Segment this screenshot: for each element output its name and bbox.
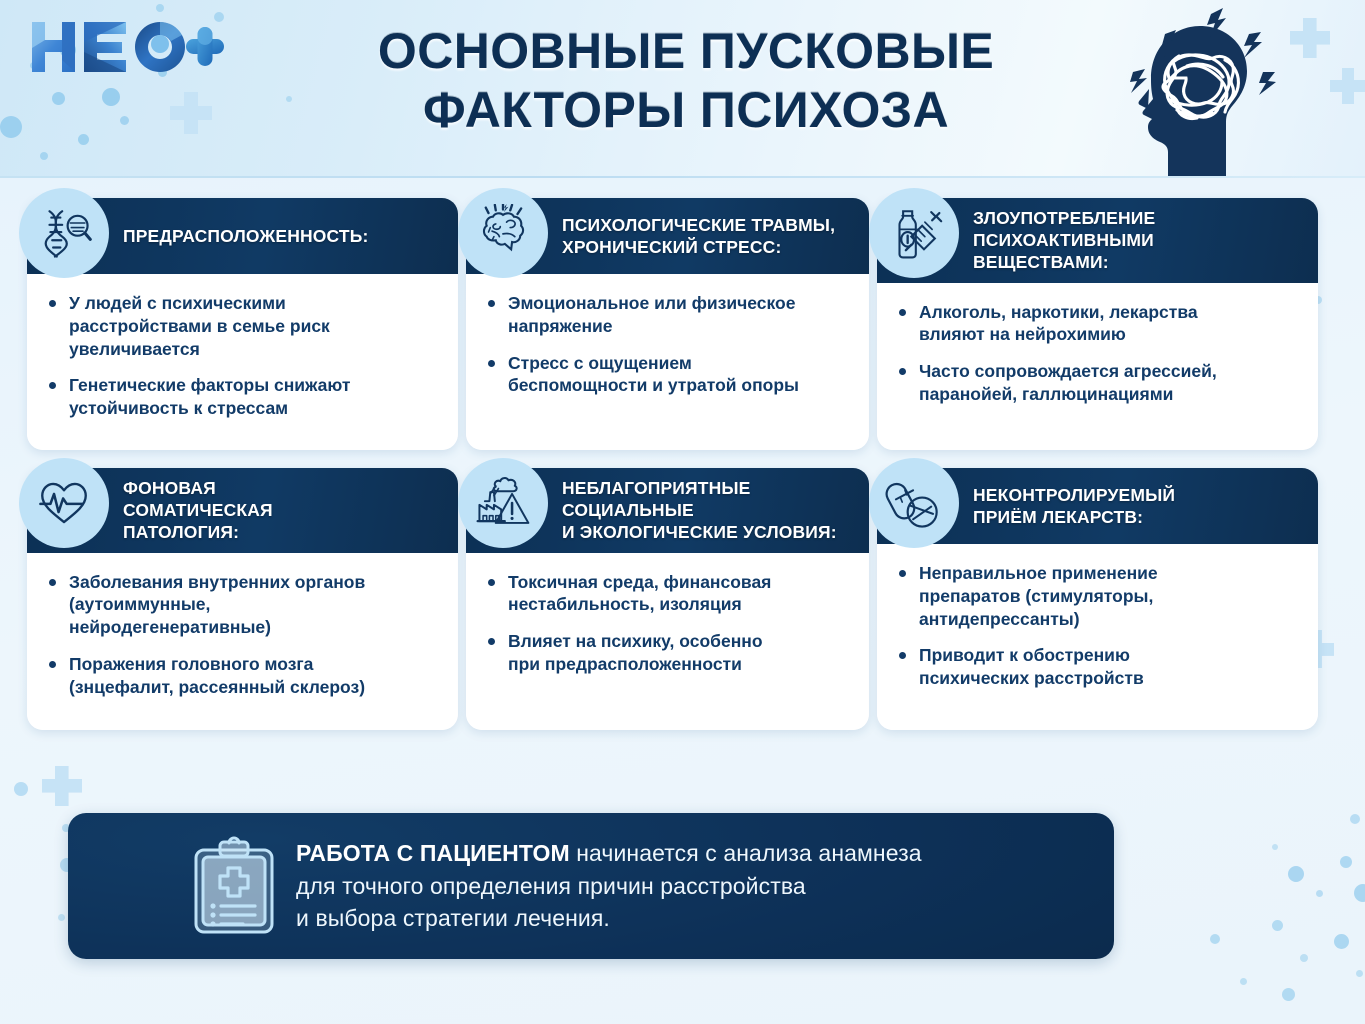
card-social-ecological[interactable]: НЕБЛАГОПРИЯТНЫЕ СОЦИАЛЬНЫЕ И ЭКОЛОГИЧЕСК… bbox=[466, 468, 869, 730]
factory-warning-icon bbox=[458, 458, 548, 548]
card-title-line: ПСИХОЛОГИЧЕСКИЕ ТРАВМЫ, bbox=[562, 214, 835, 236]
list-item: Стресс с ощущением беспомощности и утрат… bbox=[484, 352, 851, 398]
card-title-line: ЗЛОУПОТРЕБЛЕНИЕ bbox=[973, 207, 1155, 229]
card-body: Алкоголь, наркотики, лекарства влияют на… bbox=[877, 283, 1318, 450]
card-header: НЕКОНТРОЛИРУЕМЫЙ ПРИЁМ ЛЕКАРСТВ: bbox=[877, 468, 1318, 544]
card-header: ПРЕДРАСПОЛОЖЕННОСТЬ: bbox=[27, 198, 458, 274]
card-body: У людей с психическими расстройствами в … bbox=[27, 274, 458, 450]
head-with-tangled-thoughts-icon bbox=[1107, 4, 1293, 178]
card-title: ПСИХОЛОГИЧЕСКИЕ ТРАВМЫ, ХРОНИЧЕСКИЙ СТРЕ… bbox=[562, 214, 835, 258]
card-title: НЕБЛАГОПРИЯТНЫЕ СОЦИАЛЬНЫЕ И ЭКОЛОГИЧЕСК… bbox=[562, 477, 837, 544]
brand-logo[interactable] bbox=[24, 14, 224, 80]
bullet-list: Заболевания внутренних органов (аутоимму… bbox=[45, 571, 440, 699]
card-title-line: ПСИХОАКТИВНЫМИ bbox=[973, 229, 1155, 251]
bullet-list: Токсичная среда, финансовая нестабильнос… bbox=[484, 571, 851, 676]
pills-icon bbox=[869, 458, 959, 548]
card-title-line: ПАТОЛОГИЯ: bbox=[123, 521, 273, 543]
card-title-line: СОМАТИЧЕСКАЯ bbox=[123, 499, 273, 521]
card-title-line: ВЕЩЕСТВАМИ: bbox=[973, 251, 1155, 273]
card-title-line: ПРИЁМ ЛЕКАРСТВ: bbox=[973, 506, 1175, 528]
card-title: ФОНОВАЯ СОМАТИЧЕСКАЯ ПАТОЛОГИЯ: bbox=[123, 477, 273, 544]
card-predisposition[interactable]: ПРЕДРАСПОЛОЖЕННОСТЬ: У людей с психическ… bbox=[27, 198, 458, 450]
card-title-line: ПРЕДРАСПОЛОЖЕННОСТЬ: bbox=[123, 225, 368, 247]
card-psychological-trauma[interactable]: ПСИХОЛОГИЧЕСКИЕ ТРАВМЫ, ХРОНИЧЕСКИЙ СТРЕ… bbox=[466, 198, 869, 450]
card-title-line: ХРОНИЧЕСКИЙ СТРЕСС: bbox=[562, 236, 835, 258]
list-item: Заболевания внутренних органов (аутоимму… bbox=[45, 571, 440, 639]
bottle-syringe-icon bbox=[869, 188, 959, 278]
stressed-brain-icon bbox=[458, 188, 548, 278]
card-substance-abuse[interactable]: ЗЛОУПОТРЕБЛЕНИЕ ПСИХОАКТИВНЫМИ ВЕЩЕСТВАМ… bbox=[877, 198, 1318, 450]
card-title: ЗЛОУПОТРЕБЛЕНИЕ ПСИХОАКТИВНЫМИ ВЕЩЕСТВАМ… bbox=[973, 207, 1155, 274]
card-title-line: НЕКОНТРОЛИРУЕМЫЙ bbox=[973, 484, 1175, 506]
page-title-line-1: ОСНОВНЫЕ ПУСКОВЫЕ bbox=[330, 22, 1042, 81]
factors-grid: ПРЕДРАСПОЛОЖЕННОСТЬ: У людей с психическ… bbox=[27, 198, 1338, 730]
list-item: Поражения головного мозга (знцефалит, ра… bbox=[45, 653, 440, 699]
card-header: ЗЛОУПОТРЕБЛЕНИЕ ПСИХОАКТИВНЫМИ ВЕЩЕСТВАМ… bbox=[877, 198, 1318, 283]
list-item: Генетические факторы снижают устойчивост… bbox=[45, 374, 440, 420]
page-title: ОСНОВНЫЕ ПУСКОВЫЕ ФАКТОРЫ ПСИХОЗА bbox=[330, 22, 1042, 140]
card-header: ПСИХОЛОГИЧЕСКИЕ ТРАВМЫ, ХРОНИЧЕСКИЙ СТРЕ… bbox=[466, 198, 869, 274]
card-header: НЕБЛАГОПРИЯТНЫЕ СОЦИАЛЬНЫЕ И ЭКОЛОГИЧЕСК… bbox=[466, 468, 869, 553]
heart-pulse-icon bbox=[19, 458, 109, 548]
card-body: Заболевания внутренних органов (аутоимму… bbox=[27, 553, 458, 730]
list-item: Токсичная среда, финансовая нестабильнос… bbox=[484, 571, 851, 617]
clipboard-medical-icon bbox=[188, 836, 280, 936]
card-title-line: НЕБЛАГОПРИЯТНЫЕ bbox=[562, 477, 837, 499]
card-title: ПРЕДРАСПОЛОЖЕННОСТЬ: bbox=[123, 225, 368, 247]
footer-line-3: и выбора стратегии лечения. bbox=[296, 902, 922, 935]
card-title-line: И ЭКОЛОГИЧЕСКИЕ УСЛОВИЯ: bbox=[562, 521, 837, 543]
list-item: Неправильное применение препаратов (стим… bbox=[895, 562, 1300, 630]
card-body: Эмоциональное или физическое напряжение … bbox=[466, 274, 869, 450]
footer-line-2: для точного определения причин расстройс… bbox=[296, 870, 922, 903]
infographic-poster: ОСНОВНЫЕ ПУСКОВЫЕ ФАКТОРЫ ПСИХОЗА bbox=[0, 0, 1365, 1024]
card-title-line: ФОНОВАЯ bbox=[123, 477, 273, 499]
list-item: У людей с психическими расстройствами в … bbox=[45, 292, 440, 360]
bullet-list: Эмоциональное или физическое напряжение … bbox=[484, 292, 851, 397]
footer-line-1-rest: начинается с анализа анамнеза bbox=[570, 840, 922, 866]
bullet-list: Неправильное применение препаратов (стим… bbox=[895, 562, 1300, 690]
list-item: Влияет на психику, особенно при предрасп… bbox=[484, 630, 851, 676]
page-title-line-2: ФАКТОРЫ ПСИХОЗА bbox=[330, 81, 1042, 140]
poster-header: ОСНОВНЫЕ ПУСКОВЫЕ ФАКТОРЫ ПСИХОЗА bbox=[0, 0, 1365, 178]
list-item: Приводит к обострению психических расстр… bbox=[895, 644, 1300, 690]
card-header: ФОНОВАЯ СОМАТИЧЕСКАЯ ПАТОЛОГИЯ: bbox=[27, 468, 458, 553]
card-somatic-pathology[interactable]: ФОНОВАЯ СОМАТИЧЕСКАЯ ПАТОЛОГИЯ: Заболева… bbox=[27, 468, 458, 730]
card-body: Токсичная среда, финансовая нестабильнос… bbox=[466, 553, 869, 730]
card-title-line: СОЦИАЛЬНЫЕ bbox=[562, 499, 837, 521]
bullet-list: У людей с психическими расстройствами в … bbox=[45, 292, 440, 420]
list-item: Часто сопровождается агрессией, паранойе… bbox=[895, 360, 1300, 406]
list-item: Эмоциональное или физическое напряжение bbox=[484, 292, 851, 338]
footer-banner: РАБОТА С ПАЦИЕНТОМ начинается с анализа … bbox=[68, 813, 1114, 959]
footer-line-1: РАБОТА С ПАЦИЕНТОМ начинается с анализа … bbox=[296, 837, 922, 870]
dna-magnifier-icon bbox=[19, 188, 109, 278]
footer-text: РАБОТА С ПАЦИЕНТОМ начинается с анализа … bbox=[296, 837, 922, 935]
card-body: Неправильное применение препаратов (стим… bbox=[877, 544, 1318, 730]
footer-strong: РАБОТА С ПАЦИЕНТОМ bbox=[296, 840, 570, 866]
card-title: НЕКОНТРОЛИРУЕМЫЙ ПРИЁМ ЛЕКАРСТВ: bbox=[973, 484, 1175, 528]
card-uncontrolled-medication[interactable]: НЕКОНТРОЛИРУЕМЫЙ ПРИЁМ ЛЕКАРСТВ: Неправи… bbox=[877, 468, 1318, 730]
bullet-list: Алкоголь, наркотики, лекарства влияют на… bbox=[895, 301, 1300, 406]
list-item: Алкоголь, наркотики, лекарства влияют на… bbox=[895, 301, 1300, 347]
